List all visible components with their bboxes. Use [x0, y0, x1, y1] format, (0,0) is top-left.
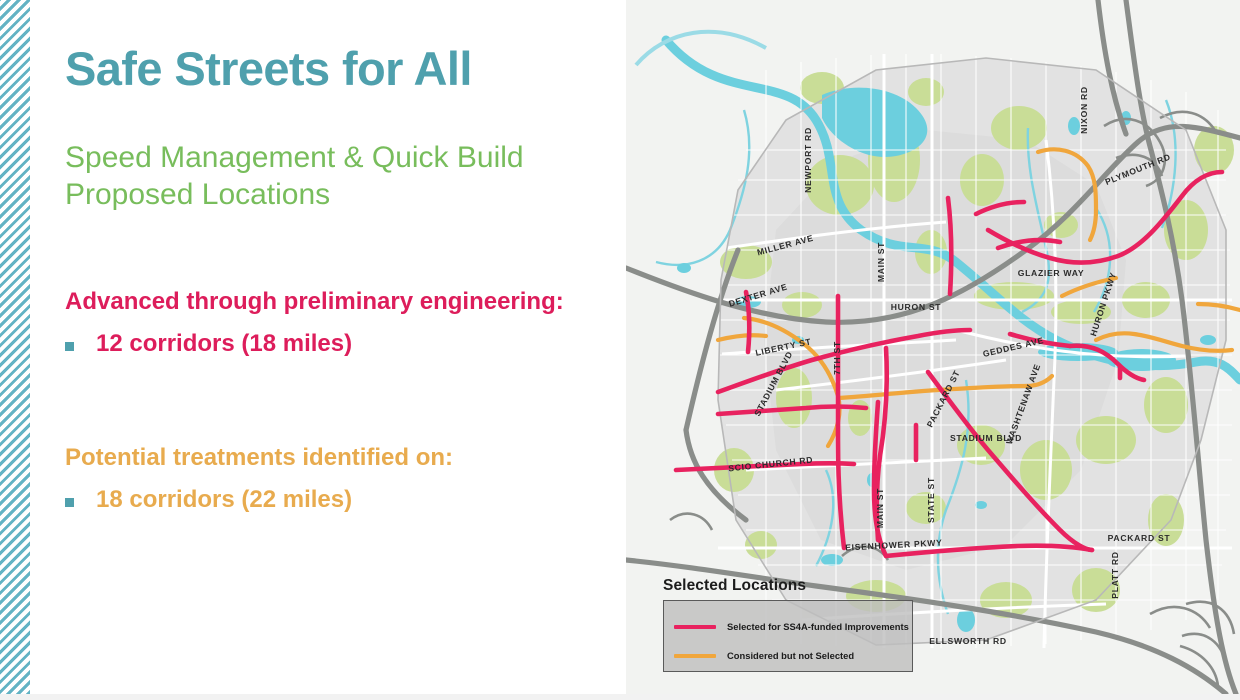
legend-title: Selected Locations: [663, 577, 919, 595]
map-street-label: PACKARD ST: [1108, 533, 1171, 543]
map-street-label: 7TH ST: [832, 341, 842, 375]
legend-label-considered: Considered but not Selected: [727, 650, 854, 661]
legend-swatch-selected: [674, 625, 716, 629]
map-street-label: MAIN ST: [876, 242, 886, 282]
content-block-potential: Potential treatments identified on: 18 c…: [65, 444, 605, 515]
decorative-stripe-band: [0, 0, 30, 694]
map-street-label: ELLSWORTH RD: [929, 636, 1007, 646]
bullet-text-potential: 18 corridors (22 miles): [96, 486, 352, 515]
text-panel: Safe Streets for All Speed Management & …: [30, 0, 626, 694]
legend-item-considered: Considered but not Selected: [674, 641, 902, 670]
legend-label-selected: Selected for SS4A-funded Improvements: [727, 621, 909, 632]
content-block-advanced: Advanced through preliminary engineering…: [65, 288, 605, 359]
legend-swatch-considered: [674, 654, 716, 658]
bullet-square-icon: [65, 498, 74, 507]
map-street-label: STATE ST: [926, 477, 936, 523]
presentation-slide: Safe Streets for All Speed Management & …: [0, 0, 1240, 694]
slide-subtitle: Speed Management & Quick Build Proposed …: [65, 140, 555, 213]
map-legend: Selected Locations Selected for SS4A-fun…: [663, 577, 919, 672]
bullet-text-advanced: 12 corridors (18 miles): [96, 330, 352, 359]
map-panel[interactable]: NEWPORT RDMILLER AVEDEXTER AVEMAIN STHUR…: [626, 0, 1240, 694]
map-street-label: GLAZIER WAY: [1018, 268, 1085, 278]
slide-title: Safe Streets for All: [65, 44, 605, 93]
map-street-label: NEWPORT RD: [803, 127, 813, 193]
block-heading-advanced: Advanced through preliminary engineering…: [65, 288, 605, 316]
legend-box: Selected for SS4A-funded Improvements Co…: [663, 600, 913, 672]
legend-item-selected: Selected for SS4A-funded Improvements: [674, 612, 902, 641]
list-item: 18 corridors (22 miles): [65, 486, 605, 515]
map-street-label: NIXON RD: [1079, 86, 1089, 134]
map-street-label: MAIN ST: [875, 488, 885, 528]
block-heading-potential: Potential treatments identified on:: [65, 444, 605, 472]
map-street-label: PLATT RD: [1110, 551, 1120, 598]
map-street-label: HURON ST: [891, 302, 942, 312]
list-item: 12 corridors (18 miles): [65, 330, 605, 359]
bullet-square-icon: [65, 342, 74, 351]
